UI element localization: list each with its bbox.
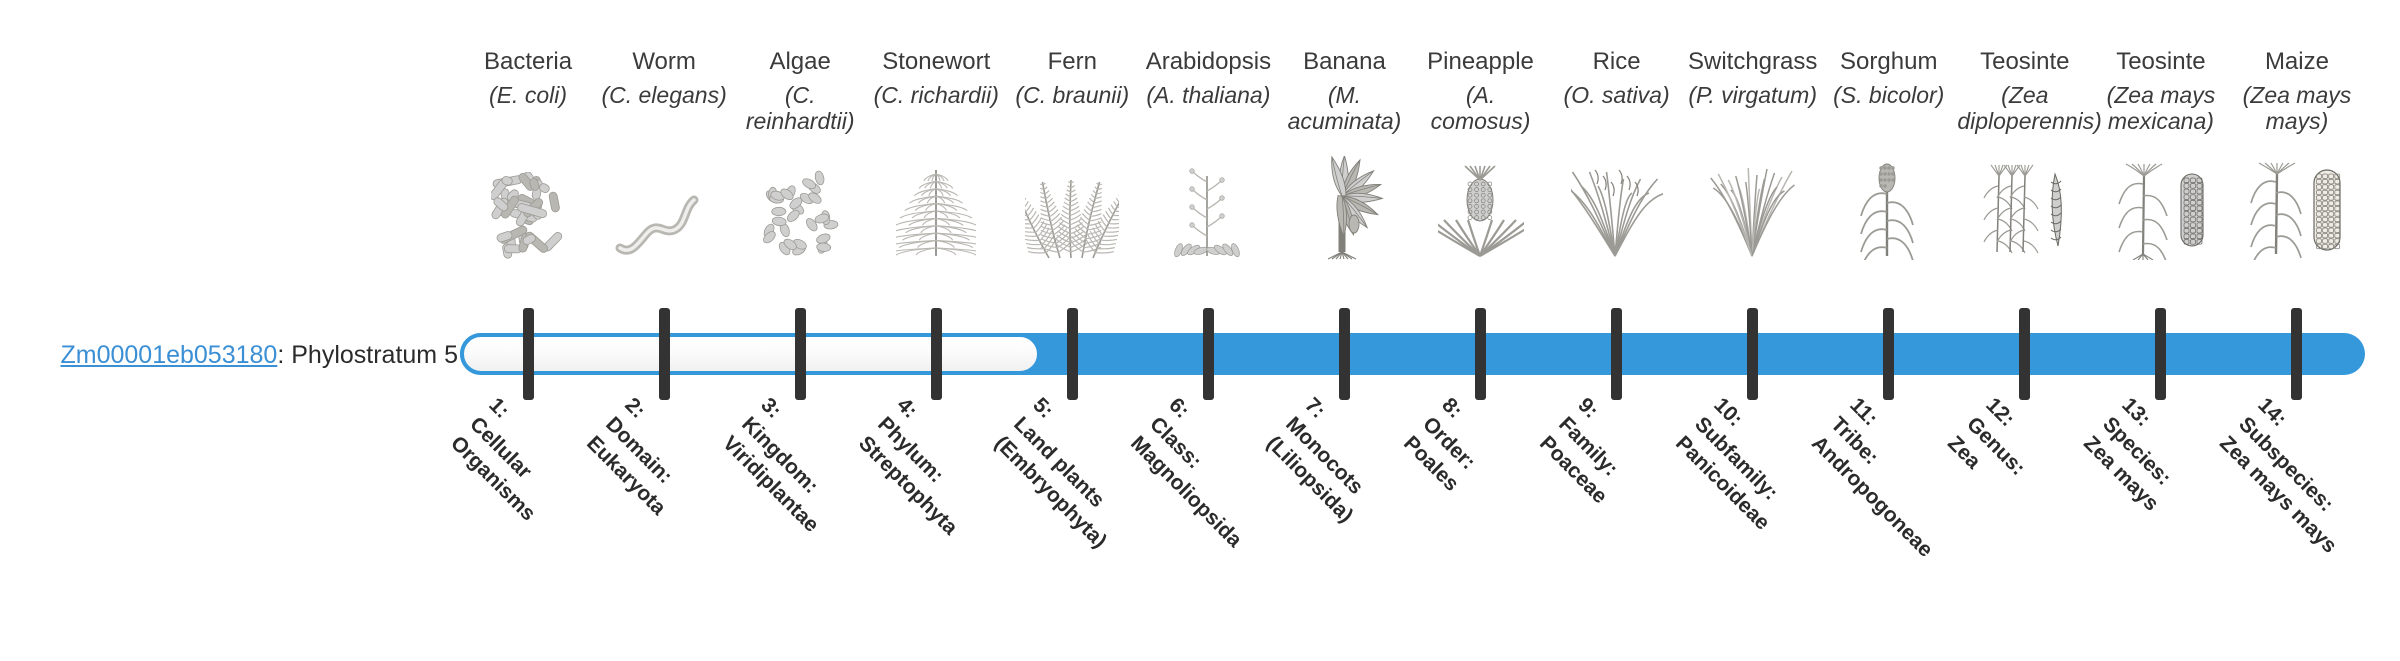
species-column: Rice(O. sativa) bbox=[1549, 48, 1684, 108]
species-common-name: Rice bbox=[1549, 48, 1684, 76]
stratum-tick[interactable] bbox=[931, 308, 942, 400]
stratum-label-part: 6: bbox=[1165, 393, 1194, 422]
gene-label-separator: : bbox=[277, 341, 291, 369]
stratum-label-part: 1: bbox=[484, 393, 513, 422]
species-scientific-name: (A. comosus) bbox=[1413, 82, 1548, 134]
species-scientific-name: (S. bicolor) bbox=[1821, 82, 1956, 108]
stratum-tick[interactable] bbox=[1475, 308, 1486, 400]
strata-label-row: 1:CellularOrganisms2:Domain:Eukaryota3:K… bbox=[460, 392, 2365, 582]
banana-icon bbox=[1277, 160, 1412, 260]
species-scientific-name: (C. reinhardtii) bbox=[733, 82, 868, 134]
species-common-name: Teosinte bbox=[1957, 48, 2092, 76]
sorghum-icon bbox=[1821, 160, 1956, 260]
bacteria-icon bbox=[461, 160, 596, 260]
stratum-label-part: 5: bbox=[1029, 393, 1058, 422]
stratum-tick[interactable] bbox=[1339, 308, 1350, 400]
species-column: Teosinte(Zea diploperennis) bbox=[1957, 48, 2092, 134]
stratum-tick[interactable] bbox=[659, 308, 670, 400]
maize-icon bbox=[2229, 160, 2364, 260]
species-column: Maize(Zea mays mays) bbox=[2229, 48, 2364, 134]
fern-icon bbox=[1005, 160, 1140, 260]
bar-track-empty bbox=[460, 333, 1041, 375]
species-common-name: Banana bbox=[1277, 48, 1412, 76]
species-scientific-name: (Zea mays mays) bbox=[2229, 82, 2364, 134]
stratum-tick[interactable] bbox=[1883, 308, 1894, 400]
phylostratum-bar[interactable] bbox=[460, 330, 2365, 378]
stratum-tick[interactable] bbox=[2291, 308, 2302, 400]
species-column: Stonewort(C. richardii) bbox=[869, 48, 1004, 108]
stratum-tick[interactable] bbox=[1067, 308, 1078, 400]
stratum-tick[interactable] bbox=[1611, 308, 1622, 400]
stratum-tick[interactable] bbox=[795, 308, 806, 400]
species-common-name: Teosinte bbox=[2093, 48, 2228, 76]
species-scientific-name: (E. coli) bbox=[461, 82, 596, 108]
phylostratum-value-text: Phylostratum 5 bbox=[291, 341, 458, 369]
teosinte-diplo-icon bbox=[1957, 160, 2092, 260]
species-scientific-name: (O. sativa) bbox=[1549, 82, 1684, 108]
species-scientific-name: (Zea diploperennis) bbox=[1957, 82, 2092, 134]
species-scientific-name: (C. braunii) bbox=[1005, 82, 1140, 108]
stratum-label-part: 3: bbox=[756, 393, 785, 422]
stratum-tick[interactable] bbox=[523, 308, 534, 400]
species-column: Fern(C. braunii) bbox=[1005, 48, 1140, 108]
switchgrass-icon bbox=[1685, 160, 1820, 260]
species-column: Pineapple(A. comosus) bbox=[1413, 48, 1548, 134]
species-column: Bacteria(E. coli) bbox=[461, 48, 596, 108]
arabidopsis-icon bbox=[1141, 160, 1276, 260]
species-common-name: Bacteria bbox=[461, 48, 596, 76]
species-common-name: Stonewort bbox=[869, 48, 1004, 76]
rice-icon bbox=[1549, 160, 1684, 260]
stratum-tick[interactable] bbox=[2019, 308, 2030, 400]
species-common-name: Fern bbox=[1005, 48, 1140, 76]
stratum-tick[interactable] bbox=[2155, 308, 2166, 400]
species-common-name: Switchgrass bbox=[1685, 48, 1820, 76]
gene-label: Zm00001eb053180: Phylostratum 5 bbox=[38, 340, 458, 370]
species-scientific-name: (C. elegans) bbox=[597, 82, 732, 108]
stratum-label-part: 7: bbox=[1301, 393, 1330, 422]
species-column: Banana(M. acuminata) bbox=[1277, 48, 1412, 134]
gene-id-link[interactable]: Zm00001eb053180 bbox=[60, 341, 277, 369]
species-column: Sorghum(S. bicolor) bbox=[1821, 48, 1956, 108]
species-common-name: Maize bbox=[2229, 48, 2364, 76]
stratum-tick[interactable] bbox=[1203, 308, 1214, 400]
teosinte-mex-icon bbox=[2093, 160, 2228, 260]
species-column: Teosinte(Zea mays mexicana) bbox=[2093, 48, 2228, 134]
species-common-name: Pineapple bbox=[1413, 48, 1548, 76]
worm-icon bbox=[597, 160, 732, 260]
species-scientific-name: (C. richardii) bbox=[869, 82, 1004, 108]
stratum-label-part: 4: bbox=[893, 393, 922, 422]
species-common-name: Worm bbox=[597, 48, 732, 76]
species-scientific-name: (Zea mays mexicana) bbox=[2093, 82, 2228, 134]
species-header-row: Bacteria(E. coli)Worm(C. elegans)Algae(C… bbox=[460, 48, 2365, 308]
species-common-name: Sorghum bbox=[1821, 48, 1956, 76]
species-column: Algae(C. reinhardtii) bbox=[733, 48, 868, 134]
species-scientific-name: (A. thaliana) bbox=[1141, 82, 1276, 108]
pineapple-icon bbox=[1413, 160, 1548, 260]
species-column: Arabidopsis(A. thaliana) bbox=[1141, 48, 1276, 108]
stratum-tick[interactable] bbox=[1747, 308, 1758, 400]
species-common-name: Arabidopsis bbox=[1141, 48, 1276, 76]
species-common-name: Algae bbox=[733, 48, 868, 76]
algae-icon bbox=[733, 160, 868, 260]
phylostratum-chart: Zm00001eb053180: Phylostratum 5 Bacteria… bbox=[0, 0, 2400, 580]
stonewort-icon bbox=[869, 160, 1004, 260]
species-column: Switchgrass(P. virgatum) bbox=[1685, 48, 1820, 108]
stratum-label-part: 2: bbox=[620, 393, 649, 422]
species-scientific-name: (M. acuminata) bbox=[1277, 82, 1412, 134]
species-scientific-name: (P. virgatum) bbox=[1685, 82, 1820, 108]
species-column: Worm(C. elegans) bbox=[597, 48, 732, 108]
